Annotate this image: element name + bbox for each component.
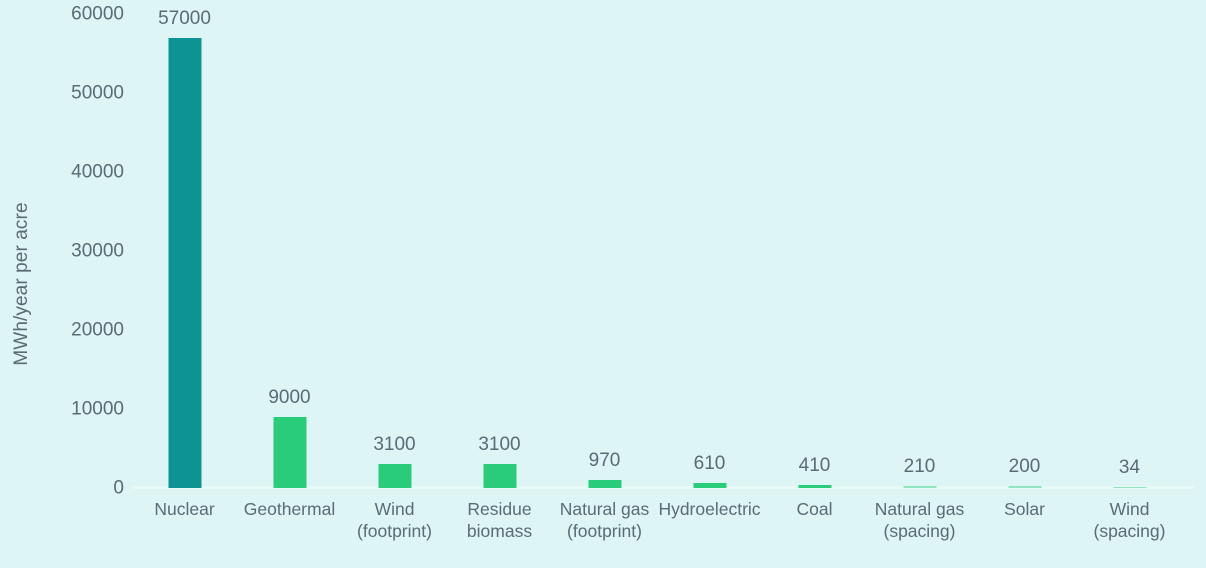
bar-chart: MWh/year per acre 0100002000030000400005… [0, 0, 1206, 568]
bar[interactable] [798, 485, 831, 488]
bar-value-label: 3100 [478, 435, 520, 454]
x-axis-label-line-2: biomass [447, 520, 552, 542]
bar-group: 3100 [342, 14, 447, 488]
bar-value-label: 200 [1009, 457, 1041, 476]
x-axis-category-label: Geothermal [237, 498, 342, 520]
y-axis-tick-labels: 0100002000030000400005000060000 [44, 0, 124, 568]
x-axis-category-label: Natural gas(spacing) [867, 498, 972, 543]
bar-group: 970 [552, 14, 657, 488]
x-axis-label-line-1: Natural gas [875, 499, 965, 519]
bar[interactable] [273, 417, 306, 488]
plot-area: 5700090003100310097061041021020034 [132, 14, 1194, 488]
x-axis-label-line-1: Wind [1110, 499, 1150, 519]
x-axis-label-line-1: Residue [467, 499, 531, 519]
x-axis-category-label: Wind(spacing) [1077, 498, 1182, 543]
bar-value-label: 34 [1119, 458, 1140, 477]
bar-value-label: 410 [799, 456, 831, 475]
x-axis-category-label: Natural gas(footprint) [552, 498, 657, 543]
y-axis-tick-label: 10000 [44, 400, 124, 419]
bar[interactable] [693, 483, 726, 488]
bar[interactable] [378, 464, 411, 488]
x-axis-category-label: Hydroelectric [657, 498, 762, 520]
bar-value-label: 970 [589, 451, 621, 470]
y-axis-title: MWh/year per acre [0, 0, 44, 568]
x-axis-label-line-2: (footprint) [342, 520, 447, 542]
x-axis-category-label: Residuebiomass [447, 498, 552, 543]
bar-group: 9000 [237, 14, 342, 488]
bar-group: 200 [972, 14, 1077, 488]
bar[interactable] [483, 464, 516, 488]
bar[interactable] [168, 38, 201, 488]
y-axis-tick-label: 60000 [44, 5, 124, 24]
bar-value-label: 610 [694, 454, 726, 473]
x-axis-label-line-1: Coal [797, 499, 833, 519]
bar[interactable] [1113, 487, 1146, 489]
bar-value-label: 210 [904, 457, 936, 476]
x-axis-label-line-1: Hydroelectric [658, 499, 760, 519]
bar-group: 410 [762, 14, 867, 488]
bar-group: 57000 [132, 14, 237, 488]
x-axis-category-label: Nuclear [132, 498, 237, 520]
bar-group: 3100 [447, 14, 552, 488]
x-axis-category-label: Coal [762, 498, 867, 520]
x-axis-label-line-1: Wind [375, 499, 415, 519]
bar[interactable] [903, 486, 936, 488]
y-axis-tick-label: 30000 [44, 242, 124, 261]
x-axis-category-label: Solar [972, 498, 1077, 520]
x-axis-label-line-1: Geothermal [244, 499, 335, 519]
x-axis-label-line-2: (spacing) [867, 520, 972, 542]
x-axis-label-line-2: (spacing) [1077, 520, 1182, 542]
y-axis-tick-label: 40000 [44, 163, 124, 182]
bar-value-label: 57000 [158, 9, 211, 28]
y-axis-tick-label: 0 [44, 479, 124, 498]
y-axis-tick-label: 50000 [44, 84, 124, 103]
x-axis-label-line-1: Nuclear [154, 499, 214, 519]
bar-group: 210 [867, 14, 972, 488]
x-axis-category-labels: NuclearGeothermalWind(footprint)Residueb… [132, 492, 1194, 552]
x-axis-category-label: Wind(footprint) [342, 498, 447, 543]
x-axis-label-line-1: Natural gas [560, 499, 650, 519]
bar-value-label: 9000 [268, 388, 310, 407]
bar-value-label: 3100 [373, 435, 415, 454]
bar-group: 34 [1077, 14, 1182, 488]
y-axis-tick-label: 20000 [44, 321, 124, 340]
bar-group: 610 [657, 14, 762, 488]
x-axis-label-line-1: Solar [1004, 499, 1045, 519]
x-axis-label-line-2: (footprint) [552, 520, 657, 542]
bar[interactable] [1008, 486, 1041, 488]
bar[interactable] [588, 480, 621, 488]
